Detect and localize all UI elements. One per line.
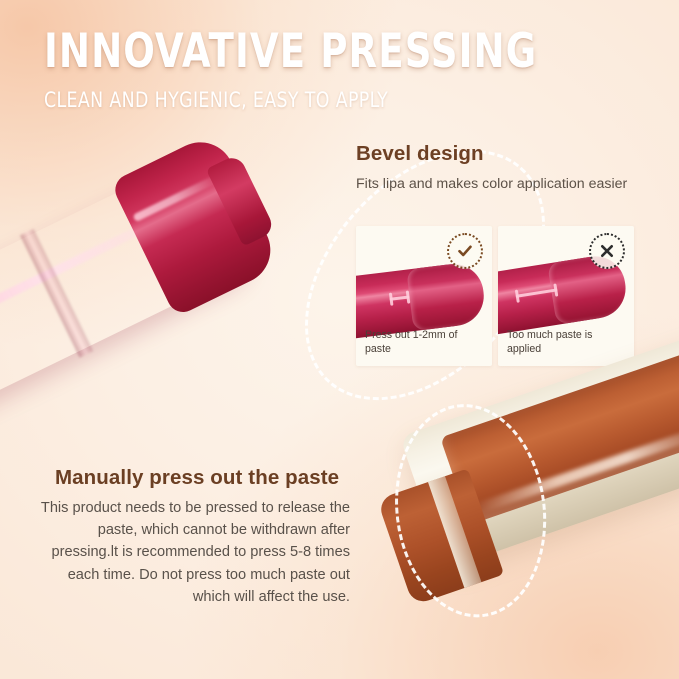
check-icon [447,233,483,269]
manual-press-body: This product needs to be pressed to rele… [28,497,350,608]
panel-correct-usage: Press out 1-2mm of paste [356,226,492,366]
comparison-panels: Press out 1-2mm of paste Too much paste … [356,226,634,366]
header: INNOVATIVE PRESSING CLEAN AND HYGIENIC, … [44,28,644,112]
page-subtitle: CLEAN AND HYGIENIC, EASY TO APPLY [44,88,596,112]
paste-extent-marker [390,295,410,300]
bevel-design-block: Bevel design Fits lipa and makes color a… [356,142,646,194]
page-title: INNOVATIVE PRESSING [44,28,572,75]
cross-icon [589,233,625,269]
manual-press-title: Manually press out the paste [28,466,350,490]
bevel-design-description: Fits lipa and makes color application ea… [356,174,646,194]
crimson-lipstick-photo [0,101,318,483]
mini-cap [406,261,487,332]
manual-press-block: Manually press out the paste This produc… [28,466,350,608]
bevel-design-title: Bevel design [356,142,646,166]
panel-caption-correct: Press out 1-2mm of paste [365,329,486,357]
product-infographic: INNOVATIVE PRESSING CLEAN AND HYGIENIC, … [0,0,679,679]
